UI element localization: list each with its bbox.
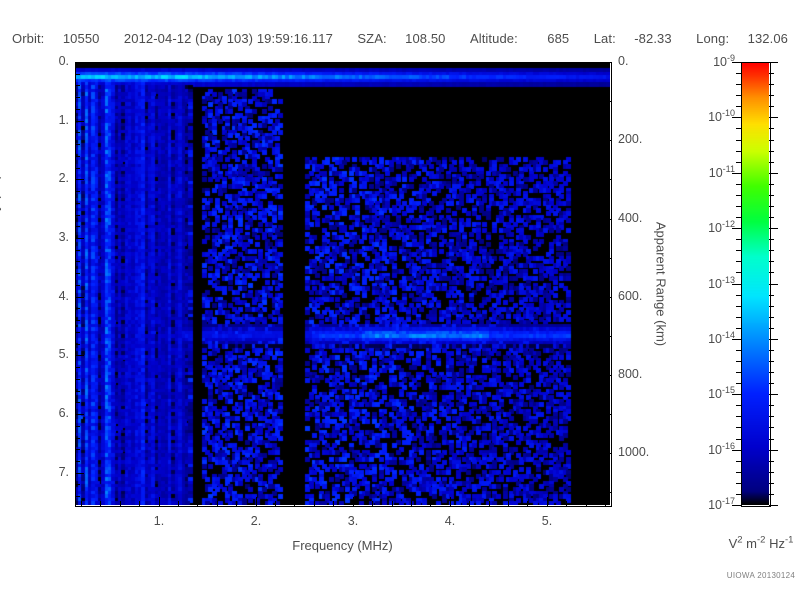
- credit-text: UIOWA 20130124: [706, 571, 800, 580]
- colorbar-minor-tick-left: [736, 84, 741, 85]
- colorbar-tick-label: 10-13: [679, 275, 735, 291]
- colorbar-minor-tick-left: [736, 361, 741, 362]
- x-axis-minor-tick: [314, 501, 315, 506]
- colorbar-major-tick-right: [769, 339, 778, 340]
- x-axis-minor-tick: [100, 501, 101, 506]
- colorbar-minor-tick-right: [769, 328, 774, 329]
- y-axis-major-tick: [75, 414, 84, 415]
- colorbar-tick-label: 10-14: [679, 330, 735, 346]
- y-axis-minor-tick: [75, 449, 80, 450]
- orbit-label: Orbit:: [12, 31, 44, 46]
- colorbar-tick-label: 10-16: [679, 441, 735, 457]
- y-axis-major-tick: [75, 238, 84, 239]
- y-axis-tick-label: 3.: [29, 230, 69, 244]
- y-axis-right-tick-label: 800.: [618, 367, 688, 381]
- colorbar-minor-tick-right: [769, 439, 774, 440]
- datetime-value: 2012-04-12 (Day 103) 19:59:16.117: [124, 31, 333, 46]
- colorbar-minor-tick-right: [769, 162, 774, 163]
- colorbar-minor-tick-right: [769, 84, 774, 85]
- y-axis-right-tick-label: 200.: [618, 132, 688, 146]
- colorbar-minor-tick-right: [769, 217, 774, 218]
- colorbar-minor-tick-left: [736, 405, 741, 406]
- colorbar-minor-tick-right: [769, 306, 774, 307]
- orbit-value: 10550: [63, 31, 100, 46]
- colorbar-minor-tick-left: [736, 151, 741, 152]
- colorbar-major-tick-right: [769, 450, 778, 451]
- x-axis-tick-label: 1.: [134, 514, 184, 528]
- colorbar-minor-tick-left: [736, 494, 741, 495]
- colorbar-minor-tick-left: [736, 350, 741, 351]
- y-axis-right-minor-tick: [606, 414, 611, 415]
- colorbar-minor-tick-left: [736, 272, 741, 273]
- colorbar-minor-tick-right: [769, 461, 774, 462]
- y-axis-minor-tick: [75, 250, 80, 251]
- colorbar-minor-tick-right: [769, 151, 774, 152]
- x-axis-minor-tick: [527, 501, 528, 506]
- colorbar-minor-tick-right: [769, 372, 774, 373]
- y-axis-right-tick-label: 1000.: [618, 445, 688, 459]
- colorbar-minor-tick-right: [769, 184, 774, 185]
- colorbar-units: V2 m-2 Hz-1: [706, 535, 800, 551]
- colorbar-minor-tick-left: [736, 140, 741, 141]
- y-axis-minor-tick: [75, 367, 80, 368]
- colorbar-minor-tick-left: [736, 306, 741, 307]
- ionogram-figure: Orbit: 10550 2012-04-12 (Day 103) 19:59:…: [0, 0, 800, 600]
- y-axis-minor-tick: [75, 261, 80, 262]
- sza-label: SZA:: [357, 31, 386, 46]
- colorbar-minor-tick-right: [769, 95, 774, 96]
- y-axis-tick-label: 1.: [29, 113, 69, 127]
- colorbar-minor-tick-left: [736, 483, 741, 484]
- colorbar-minor-tick-right: [769, 128, 774, 129]
- y-axis-minor-tick: [75, 156, 80, 157]
- y-axis-right-minor-tick: [606, 179, 611, 180]
- colorbar-minor-tick-right: [769, 73, 774, 74]
- x-axis-minor-tick: [120, 501, 121, 506]
- colorbar-minor-tick-right: [769, 350, 774, 351]
- y-axis-tick-label: 0.: [29, 54, 69, 68]
- y-axis-minor-tick: [75, 97, 80, 98]
- x-axis-major-tick: [450, 497, 451, 506]
- colorbar-minor-tick-right: [769, 383, 774, 384]
- x-axis-tick-label: 4.: [425, 514, 475, 528]
- colorbar-tick-label: 10-10: [679, 108, 735, 124]
- colorbar-major-tick-right: [769, 62, 778, 63]
- y-axis-right-minor-tick: [606, 258, 611, 259]
- y-axis-tick-label: 5.: [29, 347, 69, 361]
- colorbar-minor-tick-left: [736, 427, 741, 428]
- colorbar-minor-tick-right: [769, 206, 774, 207]
- colorbar-minor-tick-left: [736, 128, 741, 129]
- x-axis-minor-tick: [586, 501, 587, 506]
- x-axis-minor-tick: [275, 501, 276, 506]
- colorbar-minor-tick-left: [736, 439, 741, 440]
- colorbar: [741, 62, 769, 505]
- colorbar-minor-tick-left: [736, 461, 741, 462]
- y-axis-major-tick: [75, 297, 84, 298]
- y-axis-minor-tick: [75, 273, 80, 274]
- y-axis-right-major-tick: [602, 219, 611, 220]
- y-axis-minor-tick: [75, 344, 80, 345]
- x-axis-minor-tick: [469, 501, 470, 506]
- x-axis-tick-label: 3.: [328, 514, 378, 528]
- x-axis-tick-label: 5.: [522, 514, 572, 528]
- colorbar-minor-tick-right: [769, 261, 774, 262]
- colorbar-minor-tick-left: [736, 217, 741, 218]
- colorbar-minor-tick-right: [769, 405, 774, 406]
- radargram-heatmap: [75, 62, 610, 505]
- y-axis-minor-tick: [75, 215, 80, 216]
- y-axis-right-major-tick: [602, 62, 611, 63]
- colorbar-minor-tick-right: [769, 250, 774, 251]
- y-axis-minor-tick: [75, 144, 80, 145]
- x-axis-title: Frequency (MHz): [75, 538, 610, 553]
- colorbar-major-tick-right: [769, 117, 778, 118]
- y-axis-minor-tick: [75, 484, 80, 485]
- colorbar-minor-tick-left: [736, 195, 741, 196]
- colorbar-minor-tick-right: [769, 416, 774, 417]
- colorbar-minor-tick-left: [736, 250, 741, 251]
- y-axis-title: Time Delay (ms): [0, 142, 2, 302]
- y-axis-right-major-tick: [602, 375, 611, 376]
- x-axis-tick-label: 2.: [231, 514, 281, 528]
- y-axis-right-major-tick: [602, 297, 611, 298]
- y-axis-right-major-tick: [602, 140, 611, 141]
- colorbar-minor-tick-left: [736, 472, 741, 473]
- longitude-value: 132.06: [748, 31, 788, 46]
- x-axis-major-tick: [547, 497, 548, 506]
- y-axis-right-tick-label: 0.: [618, 54, 688, 68]
- x-axis-minor-tick: [566, 501, 567, 506]
- y-axis-right-tick-label: 400.: [618, 211, 688, 225]
- y-axis-minor-tick: [75, 461, 80, 462]
- y-axis-tick-label: 4.: [29, 289, 69, 303]
- colorbar-minor-tick-left: [736, 73, 741, 74]
- y-axis-minor-tick: [75, 226, 80, 227]
- x-axis-minor-tick: [508, 501, 509, 506]
- x-axis-minor-tick: [411, 501, 412, 506]
- y-axis-right-major-tick: [602, 453, 611, 454]
- colorbar-minor-tick-right: [769, 361, 774, 362]
- x-axis-minor-tick: [392, 501, 393, 506]
- colorbar-minor-tick-right: [769, 427, 774, 428]
- colorbar-minor-tick-right: [769, 239, 774, 240]
- colorbar-minor-tick-left: [736, 184, 741, 185]
- y-axis-minor-tick: [75, 438, 80, 439]
- colorbar-minor-tick-left: [736, 328, 741, 329]
- y-axis-major-tick: [75, 355, 84, 356]
- colorbar-major-tick-right: [769, 228, 778, 229]
- colorbar-tick-label: 10-15: [679, 385, 735, 401]
- colorbar-minor-tick-left: [736, 106, 741, 107]
- y-axis-tick-label: 7.: [29, 465, 69, 479]
- x-axis-major-tick: [159, 497, 160, 506]
- colorbar-minor-tick-right: [769, 272, 774, 273]
- colorbar-minor-tick-right: [769, 483, 774, 484]
- colorbar-minor-tick-left: [736, 206, 741, 207]
- y-axis-major-tick: [75, 62, 84, 63]
- y-axis-minor-tick: [75, 426, 80, 427]
- colorbar-major-tick-right: [769, 284, 778, 285]
- colorbar-major-tick-right: [769, 505, 778, 506]
- x-axis-minor-tick: [333, 501, 334, 506]
- x-axis-minor-tick: [236, 501, 237, 506]
- y-axis-minor-tick: [75, 391, 80, 392]
- y-axis-minor-tick: [75, 320, 80, 321]
- colorbar-minor-tick-right: [769, 317, 774, 318]
- colorbar-minor-tick-right: [769, 472, 774, 473]
- x-axis-minor-tick: [217, 501, 218, 506]
- y-axis-minor-tick: [75, 203, 80, 204]
- y-axis-major-tick: [75, 121, 84, 122]
- altitude-value: 685: [547, 31, 569, 46]
- latitude-value: -82.33: [634, 31, 671, 46]
- colorbar-tick-label: 10-12: [679, 219, 735, 235]
- y-axis-minor-tick: [75, 402, 80, 403]
- x-axis-minor-tick: [81, 501, 82, 506]
- y-axis-minor-tick: [75, 379, 80, 380]
- altitude-label: Altitude:: [470, 31, 518, 46]
- y-axis-minor-tick: [75, 191, 80, 192]
- x-axis-minor-tick: [372, 501, 373, 506]
- sza-value: 108.50: [405, 31, 445, 46]
- metadata-header: Orbit: 10550 2012-04-12 (Day 103) 19:59:…: [0, 31, 800, 46]
- colorbar-tick-label: 10-11: [679, 164, 735, 180]
- x-axis-minor-tick: [430, 501, 431, 506]
- colorbar-minor-tick-left: [736, 416, 741, 417]
- y-axis-right-minor-tick: [606, 492, 611, 493]
- colorbar-tick-label: 10-17: [679, 496, 735, 512]
- latitude-label: Lat:: [594, 31, 616, 46]
- colorbar-minor-tick-left: [736, 372, 741, 373]
- y-axis-major-tick: [75, 179, 84, 180]
- y-axis-tick-label: 2.: [29, 171, 69, 185]
- y-axis-tick-label: 6.: [29, 406, 69, 420]
- colorbar-minor-tick-left: [736, 239, 741, 240]
- colorbar-minor-tick-left: [736, 95, 741, 96]
- colorbar-minor-tick-right: [769, 140, 774, 141]
- colorbar-major-tick-right: [769, 394, 778, 395]
- y-axis-minor-tick: [75, 332, 80, 333]
- colorbar-minor-tick-left: [736, 317, 741, 318]
- longitude-label: Long:: [696, 31, 729, 46]
- colorbar-minor-tick-right: [769, 195, 774, 196]
- colorbar-minor-tick-right: [769, 106, 774, 107]
- x-axis-minor-tick: [489, 501, 490, 506]
- y-axis-minor-tick: [75, 308, 80, 309]
- x-axis-minor-tick: [197, 501, 198, 506]
- x-axis-minor-tick: [178, 501, 179, 506]
- y-axis-minor-tick: [75, 74, 80, 75]
- y-axis-minor-tick: [75, 168, 80, 169]
- y-axis-minor-tick: [75, 285, 80, 286]
- colorbar-minor-tick-right: [769, 295, 774, 296]
- x-axis-minor-tick: [139, 501, 140, 506]
- y-axis-right-minor-tick: [606, 101, 611, 102]
- x-axis-major-tick: [353, 497, 354, 506]
- y-axis-minor-tick: [75, 85, 80, 86]
- y-axis-minor-tick: [75, 496, 80, 497]
- colorbar-major-tick-right: [769, 173, 778, 174]
- y-axis-minor-tick: [75, 132, 80, 133]
- colorbar-minor-tick-left: [736, 162, 741, 163]
- y-axis-major-tick: [75, 473, 84, 474]
- y-axis-right-minor-tick: [606, 336, 611, 337]
- x-axis-minor-tick: [605, 501, 606, 506]
- colorbar-minor-tick-left: [736, 261, 741, 262]
- colorbar-minor-tick-left: [736, 383, 741, 384]
- colorbar-tick-label: 10-9: [679, 53, 735, 69]
- radargram-plot-area: [75, 62, 610, 505]
- colorbar-minor-tick-left: [736, 295, 741, 296]
- colorbar-minor-tick-right: [769, 494, 774, 495]
- y-axis-minor-tick: [75, 109, 80, 110]
- y-axis-right-tick-label: 600.: [618, 289, 688, 303]
- x-axis-minor-tick: [294, 501, 295, 506]
- x-axis-major-tick: [256, 497, 257, 506]
- colorbar-gradient: [741, 62, 769, 505]
